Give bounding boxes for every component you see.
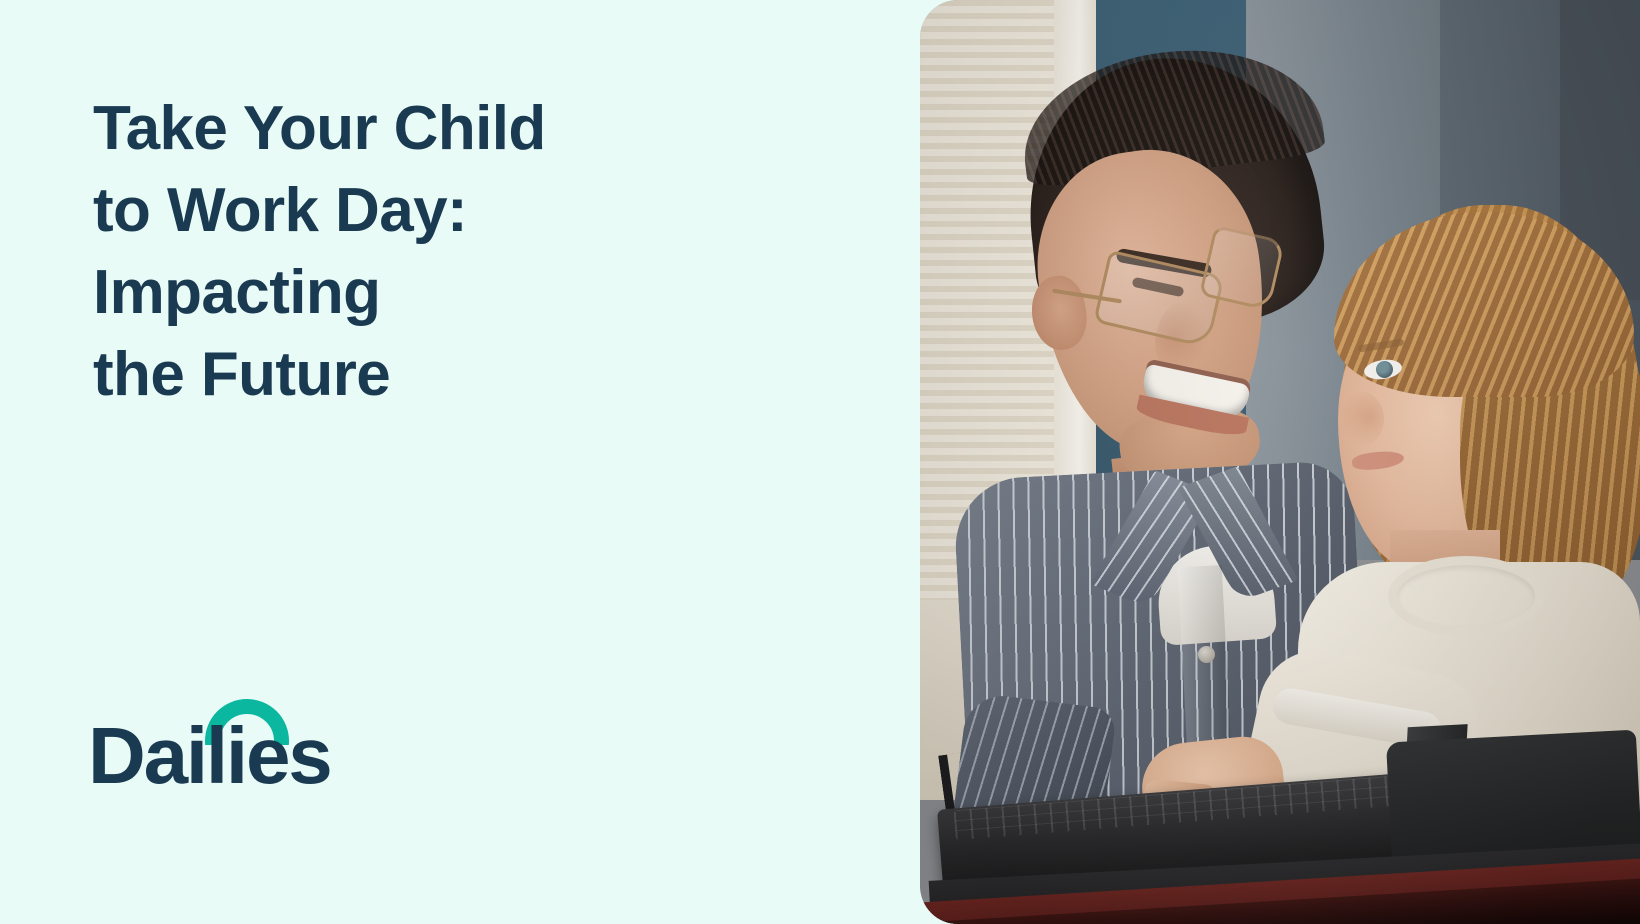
child-eye-iris xyxy=(1376,361,1393,378)
child-sweater-collar xyxy=(1388,556,1544,636)
promo-banner: Take Your Child to Work Day: Impacting t… xyxy=(0,0,1640,924)
headline-line-2: to Work Day: xyxy=(93,170,853,252)
man-shirt-button xyxy=(1198,646,1215,663)
headline-line-4: the Future xyxy=(93,334,853,416)
headline-line-1: Take Your Child xyxy=(93,88,853,170)
text-column: Take Your Child to Work Day: Impacting t… xyxy=(0,0,920,924)
dailies-logo[interactable]: Dailies xyxy=(88,694,408,814)
headline-line-3: Impacting xyxy=(93,252,853,334)
logo-wordmark: Dailies xyxy=(88,716,331,796)
page-title: Take Your Child to Work Day: Impacting t… xyxy=(93,88,853,416)
hero-photo xyxy=(920,0,1640,924)
child-nose xyxy=(1340,392,1384,446)
